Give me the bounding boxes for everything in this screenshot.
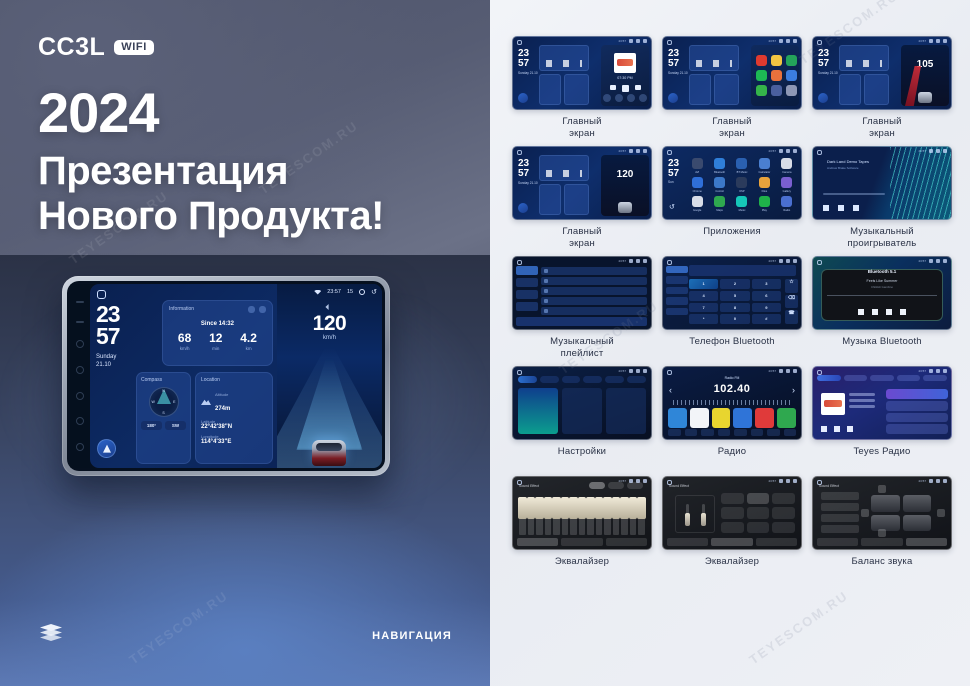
- frequency-scale[interactable]: [673, 400, 791, 405]
- car-graphic: [918, 92, 932, 103]
- tab-sub: [861, 538, 902, 546]
- preset: [721, 507, 744, 518]
- hero-panel: CC3L WIFI 2024 Презентация Нового Продук…: [0, 0, 490, 686]
- eq-band: [562, 497, 569, 535]
- stat-item: 68km/h: [178, 332, 191, 351]
- thumbnail-music-player[interactable]: 23:57 Dark Land Demo Tapes Andrew Brake …: [812, 146, 952, 220]
- track-title: Feels Like Summer: [813, 279, 951, 283]
- home-icon: [817, 150, 822, 155]
- bluetooth-version-label: Bluetooth 5.1: [813, 269, 951, 274]
- status-bar: 23:57: [918, 479, 947, 483]
- thumbnail-home-2[interactable]: 23:57 2357Sunday 21.10: [662, 36, 802, 110]
- track-artist: Childish Gambino: [813, 285, 951, 289]
- grid-cell[interactable]: 23:57 Sound Effect Эквалайзер: [662, 476, 802, 582]
- thumb-clock: 2357Sunday 21.10: [818, 49, 838, 75]
- tab-eq: [517, 538, 558, 546]
- speed-display: 120 km/h: [277, 304, 382, 341]
- app-icon-yandex: [771, 55, 782, 66]
- home-icon: [817, 480, 822, 485]
- app-icon-gallery: [781, 177, 792, 188]
- car-graphic: [312, 440, 346, 466]
- radio-toolbar[interactable]: [668, 429, 796, 436]
- dialpad-key[interactable]: 8: [720, 303, 749, 313]
- stop-icon: [622, 85, 629, 92]
- eq-band: [570, 497, 577, 535]
- sidebar-item-contacts: [666, 276, 688, 283]
- location-title: Location: [201, 377, 267, 383]
- eq-band: [528, 497, 535, 535]
- settings-tabs[interactable]: [518, 376, 646, 383]
- clock-minutes: 57: [96, 326, 120, 348]
- thumbnail-home-4[interactable]: 23:57 2357Sunday 21.10 120: [512, 146, 652, 220]
- eq-band: [579, 497, 586, 535]
- eq-band: [613, 497, 620, 535]
- list-item: [886, 413, 948, 423]
- tab-display: [562, 376, 581, 383]
- status-bar: 23:57: [918, 259, 947, 263]
- presentation-slide: CC3L WIFI 2024 Презентация Нового Продук…: [0, 0, 970, 686]
- playlist-sidebar: [516, 266, 538, 315]
- back-button-icon[interactable]: [76, 392, 84, 400]
- status-bar: 23:57: [918, 369, 947, 373]
- thumbnail-caption: Главный экран: [862, 116, 901, 142]
- thumbnail-apps[interactable]: 23:57 2357Sun AVI Bluetooth BT Music Cal…: [662, 146, 802, 220]
- road-graphic: [277, 348, 382, 468]
- preset-rear: [821, 514, 859, 522]
- prev-icon: [823, 205, 829, 211]
- dialpad-key[interactable]: 0: [720, 314, 749, 324]
- speed-value: 120: [601, 169, 649, 180]
- sidebar-item-albums: [516, 278, 538, 287]
- next-station-icon[interactable]: ›: [792, 385, 795, 395]
- nav-caption: НАВИГАЦИЯ: [372, 630, 452, 642]
- list-item: [541, 297, 647, 305]
- app-icon-chrome: [692, 177, 703, 188]
- preset-pills[interactable]: [589, 482, 643, 489]
- app-icon-filemanager: [759, 177, 770, 188]
- settings-dot-icon[interactable]: [248, 306, 255, 313]
- thumbnail-bluetooth-music[interactable]: 23:57 Bluetooth 5.1 Feels Like Summer Ch…: [812, 256, 952, 330]
- preset: [721, 493, 744, 504]
- information-widget[interactable]: Information Since 14:32 68km/h 12min 4.2…: [162, 300, 273, 366]
- preset: [747, 522, 770, 533]
- thumbnail-music-playlist[interactable]: 23:57: [512, 256, 652, 330]
- tab-home: [817, 375, 841, 381]
- status-time: 23:57: [327, 289, 341, 295]
- compass-readouts: 180° SW: [141, 421, 186, 430]
- album-art: [614, 53, 636, 73]
- list-item: [541, 267, 647, 275]
- home-icon: [667, 40, 672, 45]
- thumbnail-caption: Главный экран: [562, 116, 601, 142]
- tab-genres: [844, 375, 868, 381]
- radio-band: Radio FM: [663, 376, 801, 380]
- home-widgets-pane: 23 57 Sunday21.10 Information Since 14:3…: [90, 284, 277, 468]
- eq-band: [553, 497, 560, 535]
- grid-cell[interactable]: 23:57 2357Sunday 21.10 120 Главный экран: [512, 146, 652, 252]
- compass-s: S: [162, 411, 164, 415]
- sidebar-item-calllog: [666, 297, 688, 304]
- dialpad-key[interactable]: 5: [720, 291, 749, 301]
- navigation-pane[interactable]: 23:57 15 ↺ 120 km/h: [277, 284, 382, 468]
- dialpad-key[interactable]: *: [689, 314, 718, 324]
- eq-band: [536, 497, 543, 535]
- compass-widget: [539, 74, 561, 105]
- volume-down-icon[interactable]: [76, 417, 84, 425]
- status-bar: 23:57: [768, 479, 797, 483]
- preset-6: [777, 408, 796, 428]
- status-bar: 23:57: [768, 39, 797, 43]
- station-meta: [849, 393, 875, 411]
- dialpad-key[interactable]: 2: [720, 279, 749, 289]
- grid-cell[interactable]: 23:57 Настройки: [512, 366, 652, 472]
- list-item: [541, 307, 647, 315]
- app-icon-mail: [786, 70, 797, 81]
- panel-title: Sound Effect: [519, 484, 539, 488]
- navigation-arrow-icon: [668, 93, 678, 103]
- list-item: [886, 389, 948, 399]
- seat-front-left: [871, 495, 900, 512]
- home-icon: [517, 480, 522, 485]
- preset-4: [733, 408, 752, 428]
- home-icon: [517, 40, 522, 45]
- app-icon-camera: [781, 158, 792, 169]
- back-icon[interactable]: ↺: [371, 288, 377, 296]
- information-widget: [839, 45, 889, 71]
- preset-3: [712, 408, 731, 428]
- tab-favorites: [923, 375, 947, 381]
- speed-value: 105: [901, 59, 949, 70]
- grid-cell[interactable]: 23:57 2357Sun AVI Bluetooth BT Music Cal…: [662, 146, 802, 252]
- grid-cell[interactable]: 23:57 Sound Effect Эквалайзер: [512, 476, 652, 582]
- app-grid: AVI Bluetooth BT Music Calculator Camera…: [687, 157, 797, 213]
- information-since: Since 14:32: [169, 321, 266, 327]
- status-bar: 23:57 15 ↺: [283, 288, 377, 296]
- home-icon: [517, 260, 522, 265]
- arrow-up-icon[interactable]: [878, 485, 886, 493]
- thumbnail-bluetooth-phone[interactable]: 23:57 1 2 3 4 5 6 7 8 9 * 0: [662, 256, 802, 330]
- side-button-2-icon[interactable]: [76, 321, 84, 323]
- list-item: [541, 287, 647, 295]
- thumbnail-caption: Радио: [718, 446, 746, 472]
- dialpad-key[interactable]: 1: [689, 279, 718, 289]
- progress-bar: [823, 193, 885, 195]
- stop-icon: [886, 309, 892, 315]
- grid-cell[interactable]: 23:57 1 2 3 4 5 6 7 8 9 * 0: [662, 256, 802, 362]
- car-graphic: [618, 202, 632, 213]
- preset: [772, 507, 795, 518]
- volume-level: 15: [347, 289, 353, 295]
- volume-up-icon[interactable]: [76, 443, 84, 451]
- thumbnail-equalizer-1[interactable]: 23:57 Sound Effect: [512, 476, 652, 550]
- list-item: [886, 424, 948, 434]
- preset: [721, 522, 744, 533]
- compass-n: N: [162, 389, 165, 393]
- dialpad-key[interactable]: 4: [689, 291, 718, 301]
- speed-unit: km/h: [277, 335, 382, 341]
- compass-widget: [689, 74, 711, 105]
- preset-list[interactable]: [668, 408, 796, 428]
- screenshot-grid-panel: 23:57 2357Sunday 21.10 07:30 PM Главный …: [490, 0, 970, 686]
- seat-map[interactable]: [871, 495, 931, 531]
- eq-band: [596, 497, 603, 535]
- tab-about: [627, 376, 646, 383]
- preset-all: [821, 525, 859, 533]
- location-widget: [714, 74, 739, 105]
- thumbnail-caption: Приложения: [703, 226, 761, 252]
- seat-rear-right: [903, 515, 932, 532]
- latitude-value: 22°42'38"N: [201, 424, 267, 430]
- next-icon: [853, 205, 859, 211]
- sidebar-item-dialpad: [666, 266, 688, 273]
- tab-sub: [561, 538, 602, 546]
- grid-cell[interactable]: 23:57 Sound Effect Баланс звука: [812, 476, 952, 582]
- app-icon-radio: [781, 196, 792, 207]
- side-button-1-icon[interactable]: [76, 301, 84, 303]
- app-icon-avi: [692, 158, 703, 169]
- headline-block: 2024 Презентация Нового Продукта!: [38, 85, 384, 239]
- home-icon: [817, 40, 822, 45]
- head-unit-screen[interactable]: 23 57 Sunday21.10 Information Since 14:3…: [90, 284, 382, 468]
- sidebar-item-folders: [516, 302, 538, 311]
- bottom-tabs[interactable]: [667, 538, 797, 546]
- favorite-star-icon[interactable]: ☆: [785, 279, 798, 293]
- information-stats: 68km/h 12min 4.2km: [169, 332, 266, 351]
- navigation-arrow-icon: [818, 93, 828, 103]
- information-widget: [539, 155, 589, 181]
- pause-icon: [838, 205, 844, 211]
- layers-icon: [40, 624, 62, 642]
- now-playing-bar: [516, 317, 647, 326]
- bottom-tabs[interactable]: [517, 538, 647, 546]
- fader-b: [702, 504, 705, 526]
- station-art: [821, 393, 845, 415]
- grid-cell[interactable]: 23:57 2357Sunday 21.10: [662, 36, 802, 142]
- arrow-right-icon[interactable]: [937, 509, 945, 517]
- watermark: TEYESCOM.RU: [746, 588, 851, 668]
- app-icon-calculator: [759, 158, 770, 169]
- grid-cell[interactable]: 23:57 Dark Land Demo Tapes Andrew Brake …: [812, 146, 952, 252]
- home-button-icon[interactable]: [76, 366, 84, 374]
- home-icon[interactable]: [97, 290, 106, 299]
- home-icon: [817, 370, 822, 375]
- power-button-icon[interactable]: [76, 340, 84, 348]
- media-controls: [601, 85, 649, 92]
- stat-item: 4.2km: [240, 332, 257, 351]
- home-icon: [667, 480, 672, 485]
- track-title: Dark Land Demo Tapes: [827, 159, 869, 164]
- altitude-value: 274m: [215, 406, 230, 412]
- clock-day: Sunday21.10: [96, 353, 120, 369]
- arrow-down-icon[interactable]: [878, 529, 886, 537]
- prev-icon: [610, 85, 616, 90]
- dialpad-key[interactable]: 9: [752, 303, 781, 313]
- grid-cell[interactable]: 23:57 2357Sunday 21.10 07:30 PM Главный …: [512, 36, 652, 142]
- thumb-clock: 2357Sunday 21.10: [518, 159, 538, 185]
- preset-rock: [608, 482, 624, 489]
- dialpad[interactable]: 1 2 3 4 5 6 7 8 9 * 0 #: [689, 279, 781, 324]
- thumb-clock: 2357Sun: [668, 159, 679, 184]
- app-icon-youtube: [756, 55, 767, 66]
- sub-faders[interactable]: [675, 495, 715, 533]
- compass-title: Compass: [141, 377, 186, 383]
- thumbnail-teyes-radio[interactable]: 23:57: [812, 366, 952, 440]
- thumbnail-home-1[interactable]: 23:57 2357Sunday 21.10 07:30 PM: [512, 36, 652, 110]
- status-bar: 23:57: [618, 149, 647, 153]
- logo-wifi-badge: WIFI: [114, 40, 154, 56]
- status-bar: 23:57: [768, 369, 797, 373]
- tab-fade: [606, 538, 647, 546]
- preset: [747, 507, 770, 518]
- navigation-pane: 120: [601, 155, 649, 216]
- home-icon: [817, 260, 822, 265]
- compass-w: W: [152, 400, 155, 404]
- altitude-label: Altitude: [215, 392, 230, 397]
- prev-icon: [858, 309, 864, 315]
- compass-widget: [839, 74, 861, 105]
- stat-value: 4.2: [240, 332, 257, 344]
- tab-storage: [605, 376, 624, 383]
- product-logo: CC3L WIFI: [38, 33, 154, 62]
- dialpad-key[interactable]: 6: [752, 291, 781, 301]
- thumbnail-caption: Эквалайзер: [555, 556, 609, 582]
- status-bar: 23:57: [618, 259, 647, 263]
- station-list[interactable]: [886, 389, 948, 434]
- dialpad-key[interactable]: 3: [752, 279, 781, 289]
- home-icon: [517, 370, 522, 375]
- card-wifi: [518, 388, 558, 434]
- thumbnail-radio[interactable]: 23:57 Radio FM ‹ 102.40 ›: [662, 366, 802, 440]
- tab-sub: [711, 538, 752, 546]
- teyes-tabs[interactable]: [817, 375, 947, 381]
- mountain-icon: [201, 398, 211, 405]
- thumbnail-sound-balance[interactable]: 23:57 Sound Effect: [812, 476, 952, 550]
- tab-system: [583, 376, 602, 383]
- sidebar-item-favorites: [516, 290, 538, 299]
- preset-custom: [589, 482, 605, 489]
- stat-value: 12: [209, 332, 222, 344]
- home-icon: [667, 150, 672, 155]
- location-widget: [564, 74, 589, 105]
- bottom-tabs[interactable]: [817, 538, 947, 546]
- dialpad-key[interactable]: 7: [689, 303, 718, 313]
- expand-dot-icon[interactable]: [259, 306, 266, 313]
- gear-icon[interactable]: [359, 289, 365, 295]
- home-icon: [517, 150, 522, 155]
- stat-unit: min: [209, 346, 222, 351]
- preset-1: [668, 408, 687, 428]
- tab-wlan: [518, 376, 537, 383]
- backspace-icon[interactable]: ⌫: [785, 295, 798, 309]
- thumbnail-caption: Телефон Bluetooth: [689, 336, 775, 362]
- thumbnail-caption: Музыкальный проигрыватель: [848, 226, 917, 252]
- eq-band: [638, 497, 645, 535]
- preset-2: [690, 408, 709, 428]
- thumbnail-settings[interactable]: 23:57: [512, 366, 652, 440]
- app-shortcut-pane: [751, 45, 799, 106]
- app-icon-maps: [714, 196, 725, 207]
- altitude-row: Altitude 274m: [201, 388, 267, 415]
- grid-cell[interactable]: 23:57 Teyes Радио: [812, 366, 952, 472]
- information-actions[interactable]: [248, 306, 266, 313]
- eq-band: [630, 497, 637, 535]
- thumbnail-caption: Баланс звука: [852, 556, 913, 582]
- sound-presets[interactable]: [721, 493, 795, 533]
- grid-cell[interactable]: 23:57 Музыкальный плейлист: [512, 256, 652, 362]
- arrow-left-icon[interactable]: [861, 509, 869, 517]
- location-widget: [864, 74, 889, 105]
- speed-value: 120: [277, 313, 382, 334]
- app-icon-maps: [786, 55, 797, 66]
- home-icon: [667, 370, 672, 375]
- head-unit-side-buttons[interactable]: [70, 284, 90, 468]
- balance-presets[interactable]: [821, 492, 859, 533]
- tab-fade: [756, 538, 797, 546]
- seat-front-right: [903, 495, 932, 512]
- music-pane: 07:30 PM: [601, 45, 649, 106]
- track-list: [541, 267, 647, 315]
- fader-a: [686, 504, 689, 526]
- app-icon-google: [692, 196, 703, 207]
- eq-band: [621, 497, 628, 535]
- thumbnail-caption: Музыкальный плейлист: [550, 336, 614, 362]
- card-hotspot: [562, 388, 602, 434]
- navigation-arrow-icon[interactable]: [97, 439, 116, 458]
- thumbnail-equalizer-2[interactable]: 23:57 Sound Effect: [662, 476, 802, 550]
- logo-model-text: CC3L: [38, 33, 105, 62]
- grid-cell[interactable]: 23:57 Bluetooth 5.1 Feels Like Summer Ch…: [812, 256, 952, 362]
- longitude-value: 114°4'33"E: [201, 439, 267, 445]
- waveform-visual: [890, 147, 951, 219]
- thumbnail-caption: Teyes Радио: [853, 446, 910, 472]
- headline-year: 2024: [38, 85, 384, 141]
- grid-cell[interactable]: 23:57 Radio FM ‹ 102.40 ›: [662, 366, 802, 472]
- dialpad-key[interactable]: #: [752, 314, 781, 324]
- eq-band: [545, 497, 552, 535]
- compass-widget: [539, 184, 561, 215]
- location-widget[interactable]: Location Altitude 274m Latitude 22°42'38…: [195, 372, 273, 464]
- track-time: 07:30 PM: [601, 76, 649, 80]
- road-beam: [296, 358, 362, 450]
- media-controls: [823, 205, 859, 211]
- compass-widget[interactable]: Compass N S W E 180° SW: [136, 372, 191, 464]
- app-icon-music: [736, 196, 747, 207]
- preset: [772, 493, 795, 504]
- status-bar: 23:57: [618, 479, 647, 483]
- navigation-arrow-icon: [518, 203, 528, 213]
- progress-bar: [827, 295, 937, 296]
- media-controls[interactable]: [821, 426, 853, 432]
- card-more: [606, 388, 646, 434]
- preset-front: [821, 503, 859, 511]
- next-icon: [900, 309, 906, 315]
- eq-band: [587, 497, 594, 535]
- eq-band: [604, 497, 611, 535]
- grid-cell[interactable]: 23:57 2357Sunday 21.10 105 Главный экран: [812, 36, 952, 142]
- home-icon: [667, 260, 672, 265]
- eq-faders[interactable]: [519, 497, 645, 535]
- call-icon[interactable]: ☎: [785, 310, 798, 324]
- stat-item: 12min: [209, 332, 222, 351]
- status-bar: 23:57: [768, 149, 797, 153]
- head-unit-device: 23 57 Sunday21.10 Information Since 14:3…: [62, 276, 390, 476]
- thumbnail-home-3[interactable]: 23:57 2357Sunday 21.10 105: [812, 36, 952, 110]
- settings-cards[interactable]: [518, 388, 646, 434]
- phone-actions[interactable]: ☆ ⌫ ☎: [785, 279, 798, 324]
- navigation-arrow-icon: [518, 93, 528, 103]
- app-icon-bluetooth-music: [736, 158, 747, 169]
- number-field[interactable]: [689, 265, 796, 276]
